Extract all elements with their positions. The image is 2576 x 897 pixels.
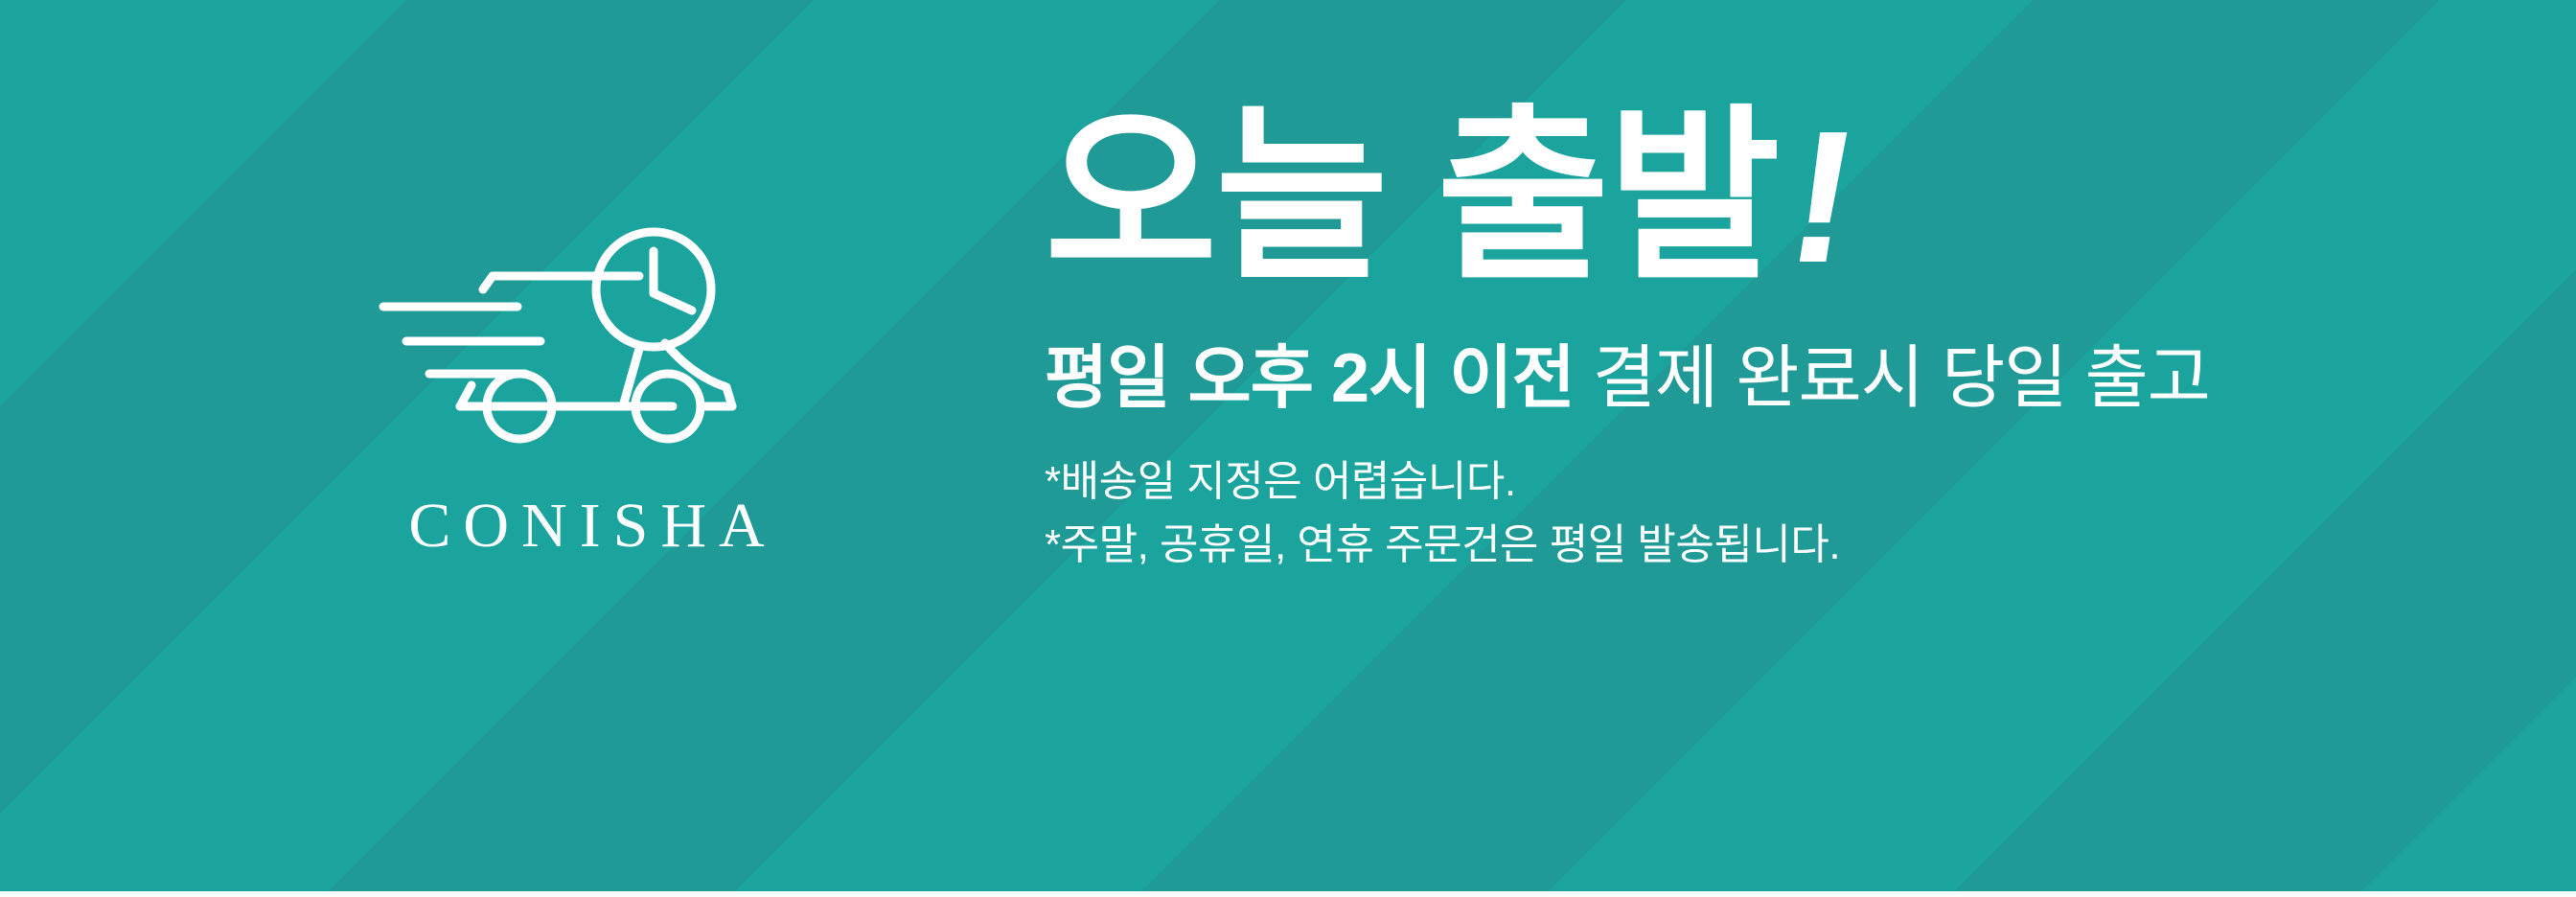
brand-logo-block: CONISHA [337, 222, 836, 625]
delivery-truck-with-clock-icon [376, 222, 797, 462]
headline: 오늘 출발! [1045, 92, 2463, 303]
subheadline: 평일 오후 2시 이전 결제 완료시 당일 출고 [1045, 335, 2463, 422]
note-line: *배송일 지정은 어렵습니다. [1045, 450, 2463, 515]
promo-copy-block: 오늘 출발! 평일 오후 2시 이전 결제 완료시 당일 출고 *배송일 지정은… [1045, 92, 2463, 578]
subheadline-rest: 결제 완료시 당일 출고 [1575, 340, 2210, 417]
truck-cargo-top [483, 276, 639, 289]
headline-exclamation: ! [1775, 92, 1869, 303]
bottom-rule [0, 891, 2576, 897]
note-line: *주말, 공휴일, 연휴 주문건은 평일 발송됩니다. [1045, 514, 2463, 578]
notes-list: *배송일 지정은 어렵습니다. *주말, 공휴일, 연휴 주문건은 평일 발송됩… [1045, 450, 2463, 579]
brand-wordmark: CONISHA [337, 494, 836, 558]
subheadline-emphasis: 평일 오후 2시 이전 [1045, 340, 1575, 417]
headline-text: 오늘 출발 [1045, 92, 1779, 302]
clock-hands [654, 251, 692, 310]
promo-banner: CONISHA 오늘 출발! 평일 오후 2시 이전 결제 완료시 당일 출고 … [0, 0, 2576, 897]
